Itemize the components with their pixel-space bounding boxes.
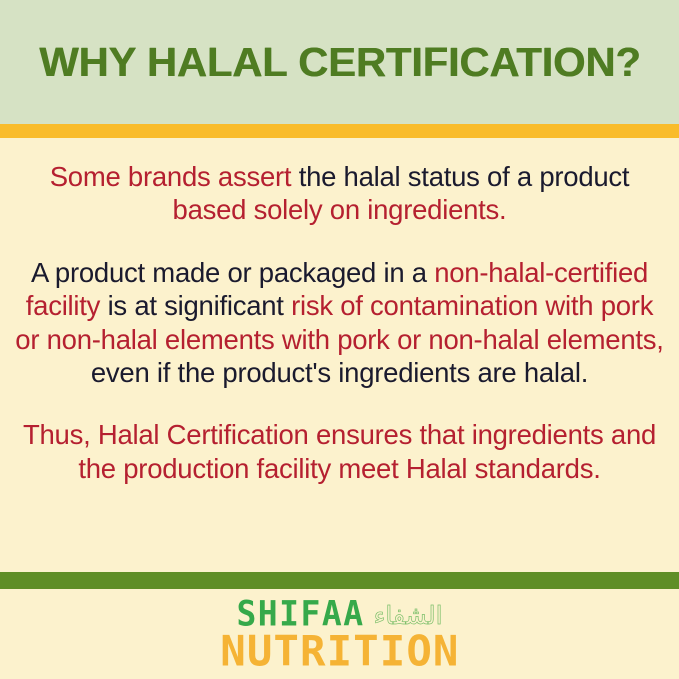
paragraph-1-run-1: Some brands assert [50, 161, 299, 192]
body-content: Some brands assert the halal status of a… [0, 138, 679, 572]
paragraph-1: Some brands assert the halal status of a… [14, 160, 665, 227]
brand-logo: SHIFAA الشفاء NUTRITION [227, 597, 453, 672]
brand-name-primary: SHIFAA [236, 596, 364, 631]
paragraph-3: Thus, Halal Certification ensures that i… [14, 418, 665, 485]
page-title: WHY HALAL CERTIFICATION? [39, 39, 640, 86]
paragraph-2: A product made or packaged in a non-hala… [14, 256, 665, 390]
poster-root: WHY HALAL CERTIFICATION? Some brands ass… [0, 0, 679, 679]
brand-name-secondary: NUTRITION [220, 631, 459, 673]
paragraph-3-run-1: Thus, Halal Certification ensures that i… [23, 419, 656, 483]
amber-divider [0, 124, 679, 138]
footer-area: SHIFAA الشفاء NUTRITION [0, 589, 679, 679]
paragraph-1-run-3: based solely on ingredients. [173, 194, 507, 225]
green-divider [0, 572, 679, 589]
brand-logo-top-row: SHIFAA الشفاء [236, 597, 442, 630]
paragraph-2-run-5: even if the product's ingredients are ha… [91, 357, 588, 388]
header-band: WHY HALAL CERTIFICATION? [0, 0, 679, 124]
paragraph-2-run-3: is at significant [108, 290, 292, 321]
brand-name-arabic: الشفاء [374, 603, 443, 628]
paragraph-1-run-2: the halal status of a product [299, 161, 630, 192]
paragraph-2-run-1: A product made or packaged in a [31, 257, 434, 288]
